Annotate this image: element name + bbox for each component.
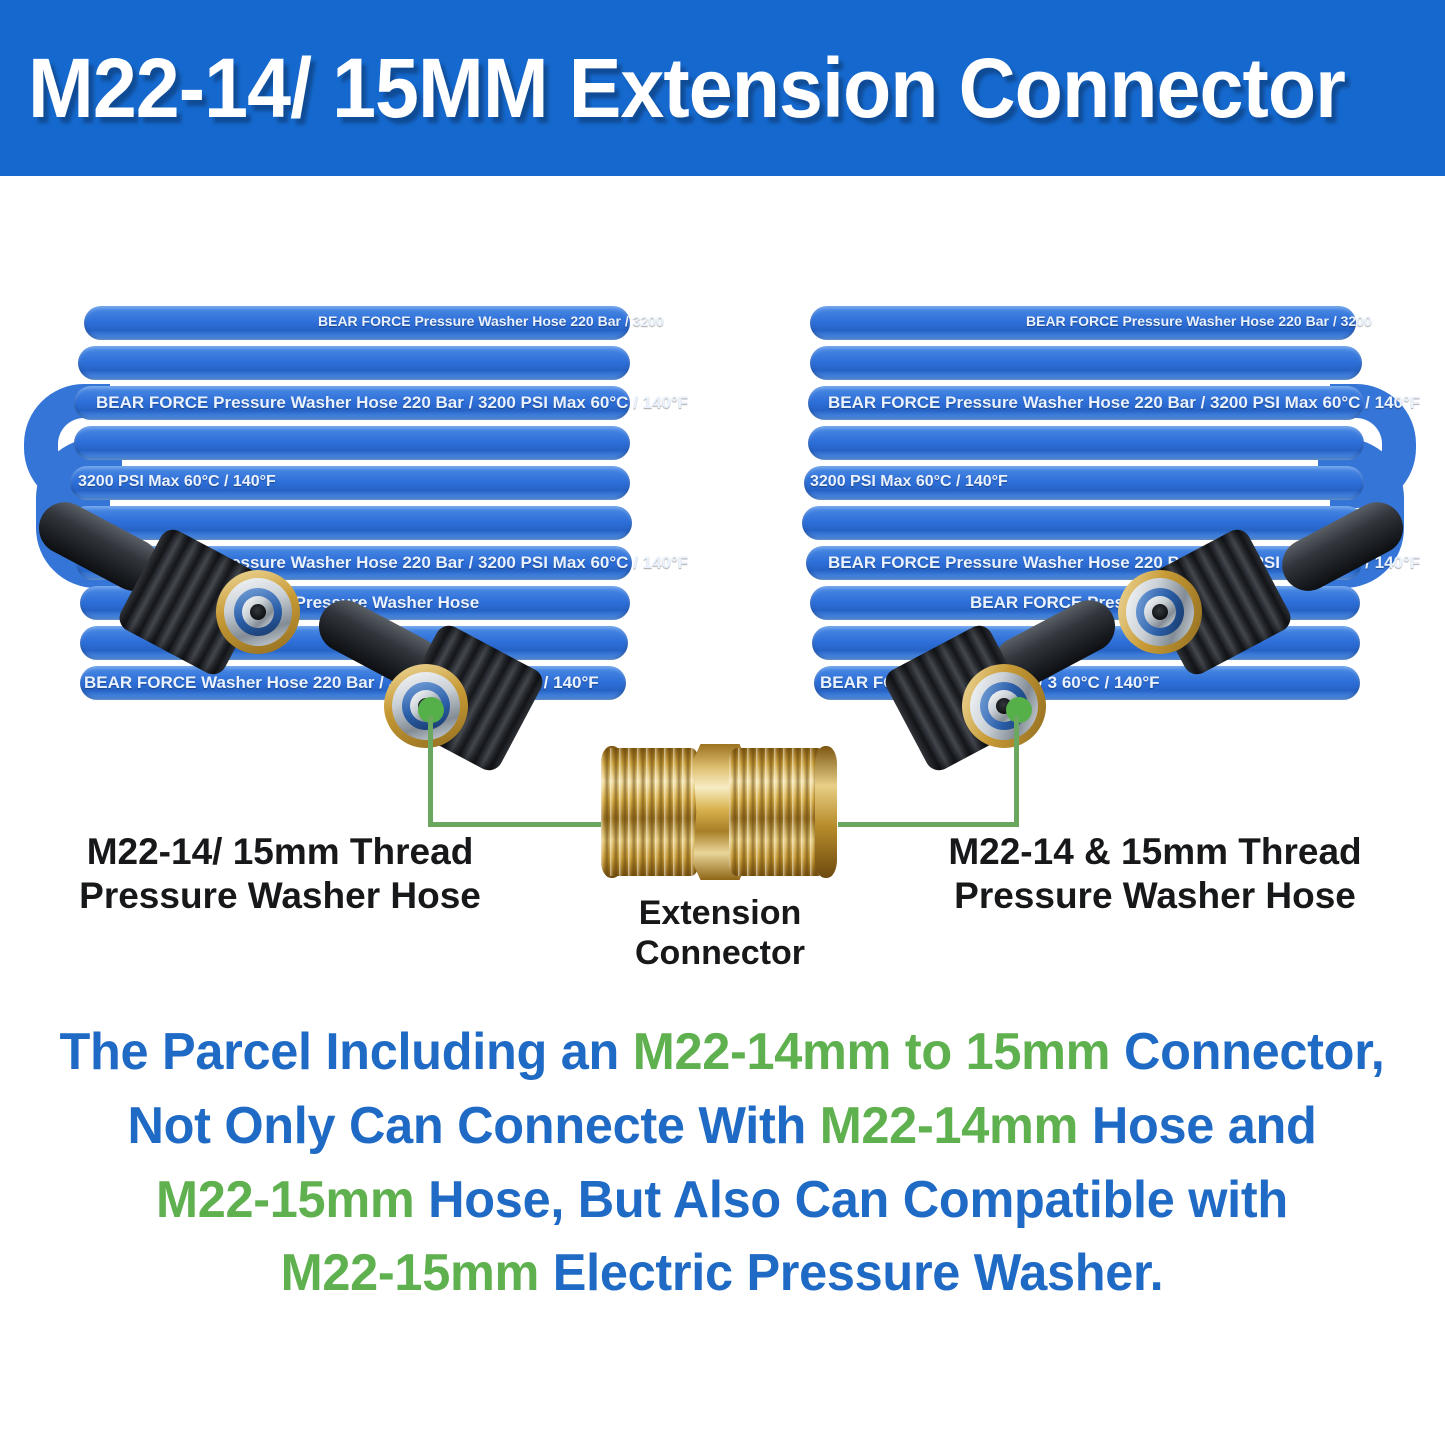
hose-coupler-upper-left [42, 478, 292, 663]
paragraph-l1-c: Connector, [1110, 1023, 1384, 1081]
paragraph-l4-b: Electric Pressure Washer. [539, 1244, 1163, 1302]
callout-dot-right [1006, 697, 1032, 723]
hose-band [78, 346, 630, 380]
paragraph-line-3: M22-15mm Hose, But Also Can Compatible w… [43, 1164, 1401, 1238]
header-banner: M22-14/ 15MM Extension Connector [0, 0, 1445, 176]
caption-left-line1: M22-14/ 15mm Thread [60, 830, 500, 874]
coupler-stem [1273, 493, 1412, 600]
hose-left-image: BEAR FORCE Pressure Washer Hose 220 Bar … [22, 288, 642, 718]
brass-thread-right [729, 748, 827, 876]
hose-coupler-upper-right [1152, 478, 1402, 663]
paragraph-l1-b: M22-14mm to 15mm [633, 1023, 1111, 1081]
paragraph-line-1: The Parcel Including an M22-14mm to 15mm… [43, 1016, 1401, 1090]
hose-coupler-lower-right [860, 568, 1110, 753]
caption-connector: Extension Connector [600, 893, 840, 973]
brass-thread-left [601, 748, 699, 876]
paragraph-l1-a: The Parcel Including an [60, 1023, 633, 1081]
hose-band [74, 386, 630, 420]
paragraph-l4-a: M22-15mm [281, 1244, 539, 1302]
hose-band [808, 386, 1364, 420]
paragraph-l2-c: Hose and [1078, 1097, 1316, 1155]
callout-line-horizontal-left [428, 822, 606, 827]
caption-left-line2: Pressure Washer Hose [60, 874, 500, 918]
caption-right-hose: M22-14 & 15mm Thread Pressure Washer Hos… [940, 830, 1370, 917]
bottom-description-paragraph: The Parcel Including an M22-14mm to 15mm… [22, 1016, 1422, 1311]
callout-line-vertical-right [1014, 716, 1019, 826]
coupler-port-hole [1152, 604, 1168, 620]
callout-line-vertical-left [428, 716, 433, 826]
caption-left-hose: M22-14/ 15mm Thread Pressure Washer Hose [60, 830, 500, 917]
hose-band [74, 426, 630, 460]
paragraph-l3-a: M22-15mm [156, 1171, 414, 1229]
hose-band [808, 426, 1364, 460]
page-title: M22-14/ 15MM Extension Connector [28, 46, 1345, 130]
paragraph-l3-b: Hose, But Also Can Compatible with [414, 1171, 1288, 1229]
coupler-port-hole [250, 604, 266, 620]
hose-right-image: BEAR FORCE Pressure Washer Hose 220 Bar … [800, 288, 1420, 718]
hose-band [84, 306, 630, 340]
caption-center-line2: Connector [600, 933, 840, 973]
paragraph-line-4: M22-15mm Electric Pressure Washer. [43, 1237, 1401, 1311]
caption-right-line2: Pressure Washer Hose [940, 874, 1370, 918]
paragraph-line-2: Not Only Can Connecte With M22-14mm Hose… [43, 1090, 1401, 1164]
hose-band [810, 346, 1362, 380]
brass-collar-right [815, 746, 837, 878]
hose-band [810, 306, 1356, 340]
callout-line-horizontal-right [838, 822, 1019, 827]
paragraph-l2-b: M22-14mm [820, 1097, 1078, 1155]
caption-right-line1: M22-14 & 15mm Thread [940, 830, 1370, 874]
paragraph-l2-a: Not Only Can Connecte With [127, 1097, 819, 1155]
hose-coupler-lower-left [322, 568, 572, 753]
caption-center-line1: Extension [600, 893, 840, 933]
brass-extension-connector-image [601, 742, 837, 882]
